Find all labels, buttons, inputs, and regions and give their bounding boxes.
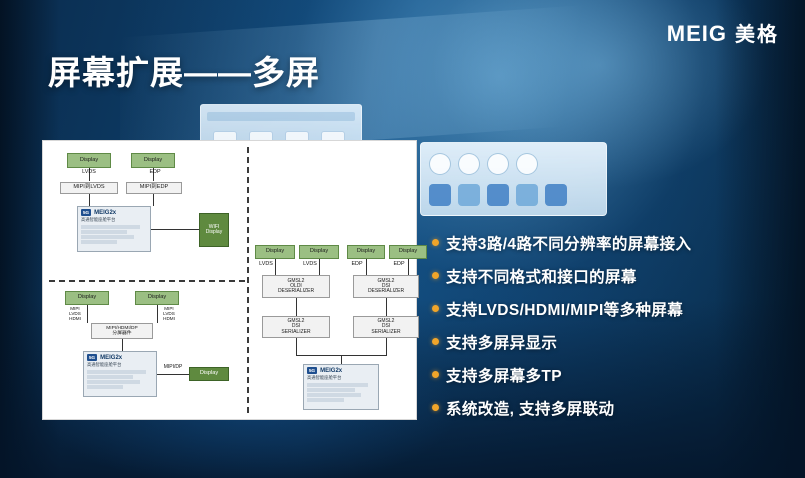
bl-display-1: Display (65, 291, 109, 305)
bl-soc-row (87, 375, 133, 379)
r-display-4: Display (389, 245, 427, 259)
bullet-text: 支持多屏幕多TP (446, 364, 562, 386)
r-soc-badge: 5G (307, 367, 317, 374)
media-unit-knob (487, 153, 509, 175)
bullet-dot-icon (432, 371, 439, 378)
media-unit-knob (429, 153, 451, 175)
bl-splitter: MIPI/HDMI/DP 分屏器件 (91, 323, 153, 339)
brand-logo-chinese: 美格 (735, 18, 779, 47)
r-des-ser-line-2 (386, 298, 387, 316)
tl-soc-row (81, 240, 117, 244)
page-title: 屏幕扩展——多屏 (48, 46, 320, 94)
tl-soc-name: MEIG2x (94, 210, 116, 216)
media-unit-button (516, 184, 538, 206)
bullet-text: 支持3路/4路不同分辨率的屏幕接入 (446, 232, 691, 254)
tl-bridge-2: MIPI到EDP (126, 182, 182, 194)
media-unit-button (545, 184, 567, 206)
bullet-dot-icon (432, 305, 439, 312)
media-unit-button (429, 184, 451, 206)
bl-soc-row (87, 385, 123, 389)
r-soc-chip: 5G MEIG2x 高通智能座舱平台 (303, 364, 379, 410)
tl-soc-chip: 5G MEIG2x 高通智能座舱平台 (77, 206, 151, 252)
r-soc-row (307, 388, 355, 392)
tl-link-label-1: LVDS (73, 170, 105, 176)
slide-root: MEIG 美格 屏幕扩展——多屏 Display Display LVDS ED… (0, 0, 805, 478)
r-soc-row (307, 398, 344, 402)
tl-bridge-1: MIPI到LVDS (60, 182, 118, 194)
r-display-2: Display (299, 245, 339, 259)
bullet-item: 支持LVDS/HDMI/MIPI等多种屏幕 (432, 298, 792, 320)
r-serializer-1: GMSL2 DSI SERIALIZER (262, 316, 330, 338)
tl-bridge-line-2 (153, 194, 154, 206)
r-link-label-1: LVDS (257, 262, 275, 268)
tl-soc-row (81, 230, 127, 234)
r-soc-row (307, 383, 368, 387)
media-unit-knob (516, 153, 538, 175)
tl-soc-row (81, 235, 134, 239)
brand-logo-latin: MEIG (667, 21, 727, 47)
r-serializer-2: GMSL2 DSI SERIALIZER (353, 316, 419, 338)
bullet-dot-icon (432, 239, 439, 246)
bl-link-label-1: MIPI LVDS HDMI (65, 306, 85, 321)
bl-soc-rows (84, 368, 156, 392)
bl-soc-name: MEIG2x (100, 355, 122, 361)
r-link-label-4: EDP (391, 262, 407, 268)
tl-wifi-display: WIFI Display (199, 213, 229, 247)
r-display-1: Display (255, 245, 295, 259)
background-media-unit (420, 142, 607, 216)
bl-splitter-line (122, 339, 123, 351)
bullet-item: 支持多屏异显示 (432, 331, 792, 353)
r-soc-rows (304, 381, 378, 405)
r-link-label-2: LVDS (301, 262, 319, 268)
bullet-dot-icon (432, 272, 439, 279)
r-link-line-3 (366, 259, 367, 275)
tl-link-label-2: EDP (139, 170, 171, 176)
tl-soc-row (81, 225, 140, 229)
bl-display-2: Display (135, 291, 179, 305)
bl-out-display: Display (189, 367, 229, 381)
tl-soc-head: 5G MEIG2x (78, 207, 150, 217)
media-unit-knob-row (429, 152, 598, 176)
diagram-vertical-divider (247, 147, 249, 413)
r-des-ser-line-1 (296, 298, 297, 316)
tl-soc-badge: 5G (81, 209, 91, 216)
bl-link-line-1 (87, 305, 88, 323)
r-soc-row (307, 393, 361, 397)
bullet-item: 系统改造, 支持多屏联动 (432, 397, 792, 419)
r-link-line-2 (319, 259, 320, 275)
bl-out-label: MIPI/DP (155, 365, 191, 371)
bullet-dot-icon (432, 404, 439, 411)
r-ser-soc-line-1 (296, 338, 297, 356)
tl-wifi-line (151, 229, 199, 230)
r-link-line-1 (275, 259, 276, 275)
r-link-label-3: EDP (349, 262, 365, 268)
bl-soc-badge: 5G (87, 354, 97, 361)
feature-bullet-list: 支持3路/4路不同分辨率的屏幕接入 支持不同格式和接口的屏幕 支持LVDS/HD… (432, 232, 792, 430)
r-deserializer-2: GMSL2 DSI DESERIALIZER (353, 275, 419, 298)
r-ser-soc-line-2 (386, 338, 387, 356)
r-deserializer-1: GMSL2 OLDI DESERIALIZER (262, 275, 330, 298)
media-unit-button-row (429, 183, 598, 207)
r-soc-head: 5G MEIG2x (304, 365, 378, 375)
bullet-item: 支持不同格式和接口的屏幕 (432, 265, 792, 287)
bl-soc-row (87, 370, 146, 374)
bullet-text: 支持不同格式和接口的屏幕 (446, 265, 637, 287)
architecture-diagram-panel: Display Display LVDS EDP MIPI到LVDS MIPI到… (42, 140, 417, 420)
tl-display-1: Display (67, 153, 111, 168)
r-link-line-4 (408, 259, 409, 275)
r-soc-name: MEIG2x (320, 368, 342, 374)
bl-soc-row (87, 380, 140, 384)
bullet-item: 支持3路/4路不同分辨率的屏幕接入 (432, 232, 792, 254)
tl-display-2: Display (131, 153, 175, 168)
bl-link-label-2: MIPI LVDS HDMI (159, 306, 179, 321)
media-unit-knob (458, 153, 480, 175)
r-soc-drop-line (341, 355, 342, 364)
bl-out-line (157, 374, 189, 375)
bl-link-line-2 (157, 305, 158, 323)
brand-logo: MEIG 美格 (667, 18, 779, 47)
bullet-dot-icon (432, 338, 439, 345)
bl-soc-chip: 5G MEIG2x 高通智能座舱平台 (83, 351, 157, 397)
bullet-text: 支持多屏异显示 (446, 331, 557, 353)
tl-soc-rows (78, 223, 150, 247)
r-display-3: Display (347, 245, 385, 259)
console-screen-statusbar (207, 112, 355, 121)
tl-bridge-line-1 (89, 194, 90, 206)
media-unit-button (487, 184, 509, 206)
diagram-horizontal-divider (49, 280, 245, 282)
bl-soc-head: 5G MEIG2x (84, 352, 156, 362)
bullet-text: 系统改造, 支持多屏联动 (446, 397, 614, 419)
bullet-text: 支持LVDS/HDMI/MIPI等多种屏幕 (446, 298, 683, 320)
bullet-item: 支持多屏幕多TP (432, 364, 792, 386)
media-unit-button (458, 184, 480, 206)
